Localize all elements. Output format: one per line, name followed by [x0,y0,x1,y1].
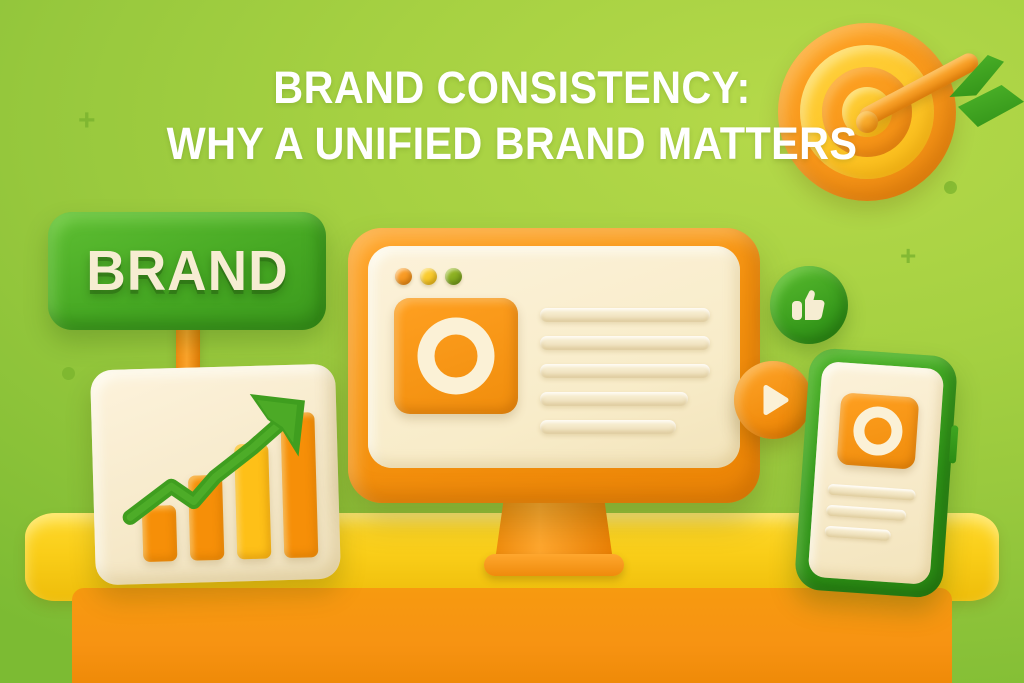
dot-decoration-icon [62,367,75,380]
window-dot-orange-icon[interactable] [395,268,412,285]
thumbs-up-icon [786,282,832,328]
window-dot-yellow-icon[interactable] [420,268,437,285]
phone-side-button[interactable] [949,425,959,463]
brand-sign: BRAND [48,212,326,330]
plus-decoration-icon: + [78,106,96,136]
phone-screen [808,361,945,585]
mobile-phone [794,347,959,599]
target-with-arrow-icon [778,23,978,233]
play-badge[interactable] [734,361,812,439]
table-front-panel [72,588,952,683]
trend-arrow-icon [90,364,341,586]
phone-brand-logo-tile [837,392,920,469]
brand-logo-icon [837,392,920,469]
screen-text-line [540,336,710,350]
arrow-tip [856,111,878,133]
screen-text-line [540,420,676,434]
brand-sign-label: BRAND [86,238,288,304]
window-dot-green-icon[interactable] [445,268,462,285]
screen-text-line [540,364,710,378]
phone-text-line [826,505,907,522]
brand-logo-tile [394,298,518,414]
brand-logo-icon [394,298,518,414]
phone-text-line [827,484,916,501]
plus-decoration-icon: + [900,242,916,270]
monitor-stand-base [484,554,624,576]
illustration-canvas: + + BRAND CONSISTENCY: WHY A UNIFIED BRA… [0,0,1024,683]
screen-text-line [540,308,710,322]
monitor-screen [368,246,740,468]
play-icon [753,380,793,420]
thumbs-up-badge[interactable] [770,266,848,344]
phone-text-line [824,526,891,542]
desktop-monitor [348,228,760,503]
growth-chart-card [90,364,341,586]
screen-text-line [540,392,688,406]
